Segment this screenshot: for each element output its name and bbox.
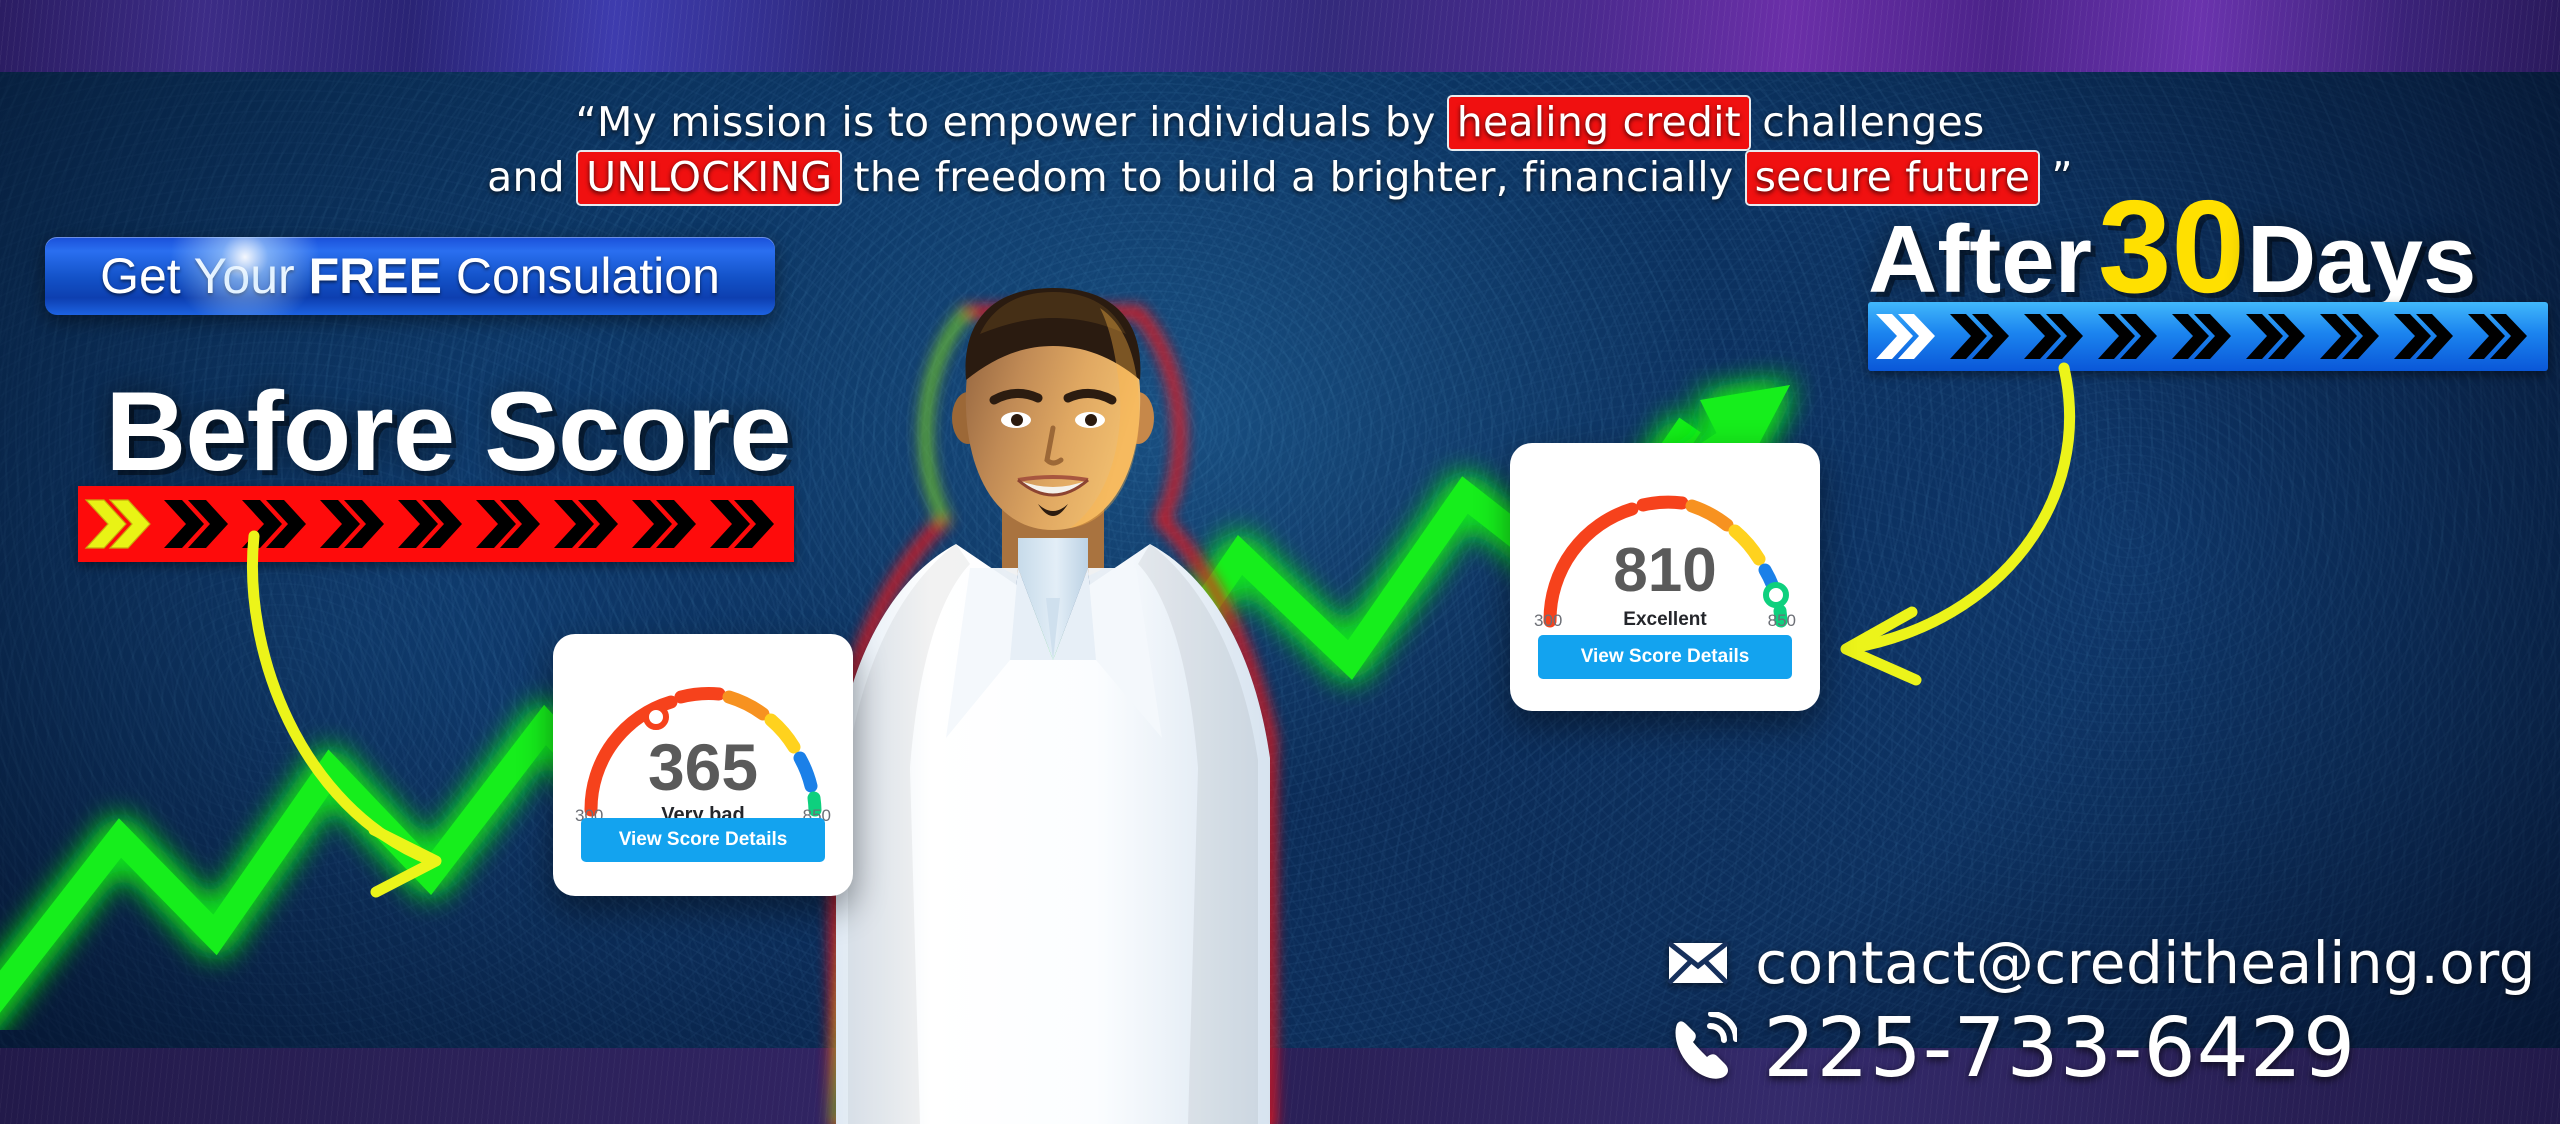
after-days-number: 30 [2098, 188, 2245, 307]
contact-block: contact@credithealing.org 225-733-6429 [1667, 929, 2536, 1096]
quote-highlight-unlocking: UNLOCKING [578, 152, 840, 204]
after-chevron-bar [1868, 302, 2548, 371]
after-30-days-headline-group: After 30 Days [1868, 188, 2558, 371]
after-prefix: After [1868, 212, 2092, 308]
chevron-right-icon-row [1868, 302, 2548, 371]
contact-email: contact@credithealing.org [1755, 929, 2536, 997]
before-chevron-bar [78, 486, 794, 562]
cta-text-before: Get Your [100, 248, 309, 304]
quote-highlight-healing-credit: healing credit [1449, 97, 1749, 149]
after-gauge-min-label: 300 [1534, 611, 1562, 631]
gauge-needle-marker [646, 707, 666, 727]
contact-phone: 225-733-6429 [1763, 1001, 2356, 1096]
after-suffix: Days [2247, 212, 2477, 308]
quote-l2-pre: and [487, 153, 578, 201]
after-days-title: After 30 Days [1868, 188, 2558, 308]
before-score-card: 365 Very bad 300 850 View Score Details [553, 634, 853, 896]
cta-text-after: Consulation [442, 248, 720, 304]
cta-text-free: FREE [309, 248, 442, 304]
cta-label: Get Your FREE Consulation [100, 247, 720, 305]
before-score-value: 365 [553, 729, 853, 805]
before-score-headline-group: Before Score [78, 378, 818, 562]
before-view-score-details-button[interactable]: View Score Details [581, 818, 825, 862]
top-purple-band [0, 0, 2560, 72]
quote-line-1: “My mission is to empower individuals by… [0, 95, 2560, 150]
quote-l1-post: challenges [1749, 98, 1985, 146]
after-gauge-max-label: 850 [1768, 611, 1796, 631]
after-score-card: 810 Excellent 300 850 View Score Details [1510, 443, 1820, 711]
envelope-icon [1667, 939, 1729, 987]
phone-ring-icon [1667, 1012, 1737, 1086]
credit-repair-banner: “My mission is to empower individuals by… [0, 0, 2560, 1124]
quote-l2-mid: the freedom to build a brighter, financi… [840, 153, 1746, 201]
after-view-score-details-button[interactable]: View Score Details [1538, 635, 1792, 679]
portrait-doctor [770, 268, 1330, 1124]
before-score-title: Before Score [78, 378, 818, 486]
quote-l1-pre: “My mission is to empower individuals by [576, 98, 1449, 146]
chevron-right-icon-row [78, 486, 794, 562]
contact-email-row[interactable]: contact@credithealing.org [1667, 929, 2536, 997]
after-score-value: 810 [1510, 535, 1820, 606]
get-free-consultation-button[interactable]: Get Your FREE Consulation [45, 237, 775, 315]
contact-phone-row[interactable]: 225-733-6429 [1667, 1001, 2356, 1096]
